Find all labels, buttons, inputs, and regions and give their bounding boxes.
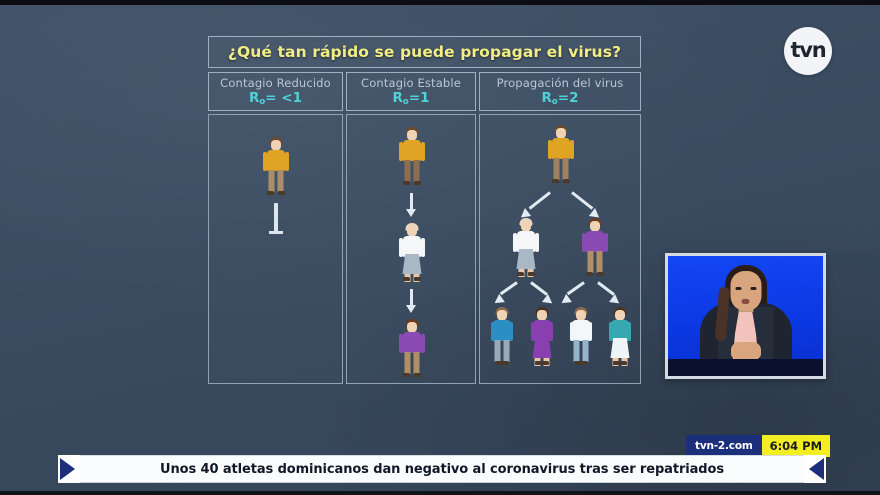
- figure-arm-left: [609, 322, 613, 341]
- figure-shoe-left: [574, 361, 581, 365]
- figure-arm-right: [421, 238, 425, 257]
- figure-torso: [403, 332, 421, 353]
- tvn-logo: tvn: [784, 27, 832, 75]
- news-ticker: Unos 40 atletas dominicanos dan negativo…: [58, 455, 826, 483]
- infographic-header-row: Contagio Reducido Ro= <1 Contagio Establ…: [208, 72, 641, 111]
- figure-shoe-right: [278, 191, 285, 195]
- figure-shoe-left: [403, 373, 410, 377]
- figure-arm-right: [570, 140, 574, 159]
- transmission-stopped-cap: [269, 231, 283, 234]
- person-orange-shirt: [397, 127, 427, 185]
- figure-arm-left: [582, 233, 586, 252]
- column-header-propagacion-del-virus: Propagación del virus Ro=2: [479, 72, 641, 111]
- infographic-title-box: ¿Qué tan rápido se puede propagar el vir…: [208, 36, 641, 68]
- sign-language-interpreter-feed[interactable]: [665, 253, 826, 379]
- figure-arm-left: [513, 233, 517, 252]
- ticker-body: Unos 40 atletas dominicanos dan negativo…: [80, 455, 804, 483]
- column-header-value: Ro= <1: [249, 90, 302, 106]
- column-body-propagacion-del-virus: [479, 114, 641, 384]
- figure-legs: [405, 256, 420, 278]
- person-purple-dress: [529, 307, 555, 357]
- figure-legs: [613, 340, 628, 362]
- figure-shoe-right: [414, 373, 421, 377]
- figure-arm-right: [535, 233, 539, 252]
- figure-legs: [535, 340, 550, 362]
- figure-arm-right: [285, 152, 289, 171]
- figure-legs: [405, 352, 420, 374]
- website-badge: tvn-2.com: [686, 435, 762, 457]
- figure-shoe-right: [581, 361, 588, 365]
- person-orange-shirt: [261, 137, 291, 195]
- figure-arm-right: [588, 322, 592, 341]
- person-white-blouse: [511, 218, 541, 276]
- interpreter-face: [730, 271, 761, 311]
- infographic-body-row: [208, 114, 641, 384]
- column-body-contagio-reducido: [208, 114, 343, 384]
- figure-arm-left: [399, 334, 403, 353]
- figure-shoe-right: [414, 277, 421, 281]
- tvn-logo-text: tvn: [790, 40, 825, 61]
- figure-arm-left: [399, 142, 403, 161]
- figure-shoe-left: [517, 272, 524, 276]
- branch-arrow-head-icon: [609, 294, 622, 307]
- down-arrow-head-icon: [406, 305, 416, 313]
- figure-shoe-right: [597, 272, 604, 276]
- interpreter-hands: [731, 342, 761, 359]
- person-teal-top: [607, 307, 633, 357]
- down-arrow-head-icon: [406, 209, 416, 217]
- column-header-label: Contagio Estable: [361, 77, 461, 90]
- interpreter-eye-right: [750, 287, 756, 290]
- figure-shoe-right: [620, 361, 627, 365]
- figure-shoe-right: [542, 361, 549, 365]
- branch-arrow-shaft: [530, 281, 548, 295]
- branch-arrow-head-icon: [492, 294, 505, 307]
- person-purple-shirt: [580, 218, 610, 276]
- person-white-blouse: [397, 223, 427, 281]
- figure-torso: [517, 231, 535, 252]
- figure-legs: [588, 251, 603, 273]
- letterbox-top-bar: [0, 0, 880, 5]
- column-header-value: Ro=2: [542, 90, 579, 106]
- branch-arrow-shaft: [529, 191, 551, 209]
- figure-shoe-left: [267, 191, 274, 195]
- figure-legs: [405, 160, 420, 182]
- figure-shoe-right: [563, 179, 570, 183]
- figure-shoe-left: [552, 179, 559, 183]
- figure-torso: [552, 138, 570, 159]
- figure-shoe-left: [613, 361, 620, 365]
- clock-badge: 6:04 PM: [762, 435, 830, 457]
- interpreter-eye-left: [735, 287, 741, 290]
- figure-torso: [403, 236, 421, 257]
- column-header-label: Contagio Reducido: [220, 77, 331, 90]
- figure-arm-right: [549, 322, 553, 341]
- figure-legs: [495, 340, 510, 362]
- letterbox-bottom-bar: [0, 491, 880, 495]
- ticker-headline: Unos 40 atletas dominicanos dan negativo…: [160, 462, 724, 477]
- page-title: ¿Qué tan rápido se puede propagar el vir…: [228, 43, 621, 61]
- column-header-value: Ro=1: [393, 90, 430, 106]
- figure-shoe-left: [403, 181, 410, 185]
- interpreter-figure: [698, 263, 794, 361]
- column-header-contagio-estable: Contagio Estable Ro=1: [346, 72, 476, 111]
- branch-arrow-shaft: [567, 281, 585, 295]
- figure-legs: [554, 158, 569, 180]
- branch-arrow-shaft: [571, 191, 593, 209]
- interpreter-mouth: [742, 299, 750, 304]
- figure-torso: [267, 150, 285, 171]
- figure-torso: [586, 231, 604, 252]
- column-header-label: Propagación del virus: [497, 77, 624, 90]
- column-body-contagio-estable: [346, 114, 476, 384]
- figure-shoe-right: [502, 361, 509, 365]
- figure-arm-right: [509, 322, 513, 341]
- news-desk: [668, 359, 823, 376]
- branch-arrow-head-icon: [559, 294, 572, 307]
- lower-third-badges: tvn-2.com 6:04 PM: [686, 435, 830, 457]
- person-blue-shirt: [489, 307, 515, 357]
- figure-arm-right: [421, 142, 425, 161]
- figure-arm-left: [491, 322, 495, 341]
- person-orange-shirt: [546, 125, 576, 183]
- figure-arm-right: [421, 334, 425, 353]
- virus-spread-infographic: ¿Qué tan rápido se puede propagar el vir…: [208, 36, 641, 387]
- column-header-contagio-reducido: Contagio Reducido Ro= <1: [208, 72, 343, 111]
- figure-shoe-left: [586, 272, 593, 276]
- figure-shoe-right: [414, 181, 421, 185]
- figure-arm-left: [263, 152, 267, 171]
- figure-legs: [519, 251, 534, 273]
- ticker-right-arrow-icon: [804, 455, 826, 483]
- figure-shoe-left: [403, 277, 410, 281]
- branch-arrow-head-icon: [542, 294, 555, 307]
- branch-arrow-shaft: [597, 281, 615, 295]
- person-white-shirt: [568, 307, 594, 357]
- figure-arm-right: [604, 233, 608, 252]
- figure-legs: [574, 340, 589, 362]
- person-purple-shirt: [397, 319, 427, 377]
- ticker-left-arrow-icon: [58, 455, 80, 483]
- figure-torso: [403, 140, 421, 161]
- transmission-stopped-line: [274, 203, 278, 233]
- figure-legs: [269, 170, 284, 192]
- figure-shoe-left: [495, 361, 502, 365]
- branch-arrow-shaft: [500, 281, 518, 295]
- figure-arm-left: [548, 140, 552, 159]
- figure-arm-left: [399, 238, 403, 257]
- figure-arm-right: [627, 322, 631, 341]
- figure-arm-left: [570, 322, 574, 341]
- figure-shoe-right: [528, 272, 535, 276]
- figure-shoe-left: [535, 361, 542, 365]
- figure-arm-left: [531, 322, 535, 341]
